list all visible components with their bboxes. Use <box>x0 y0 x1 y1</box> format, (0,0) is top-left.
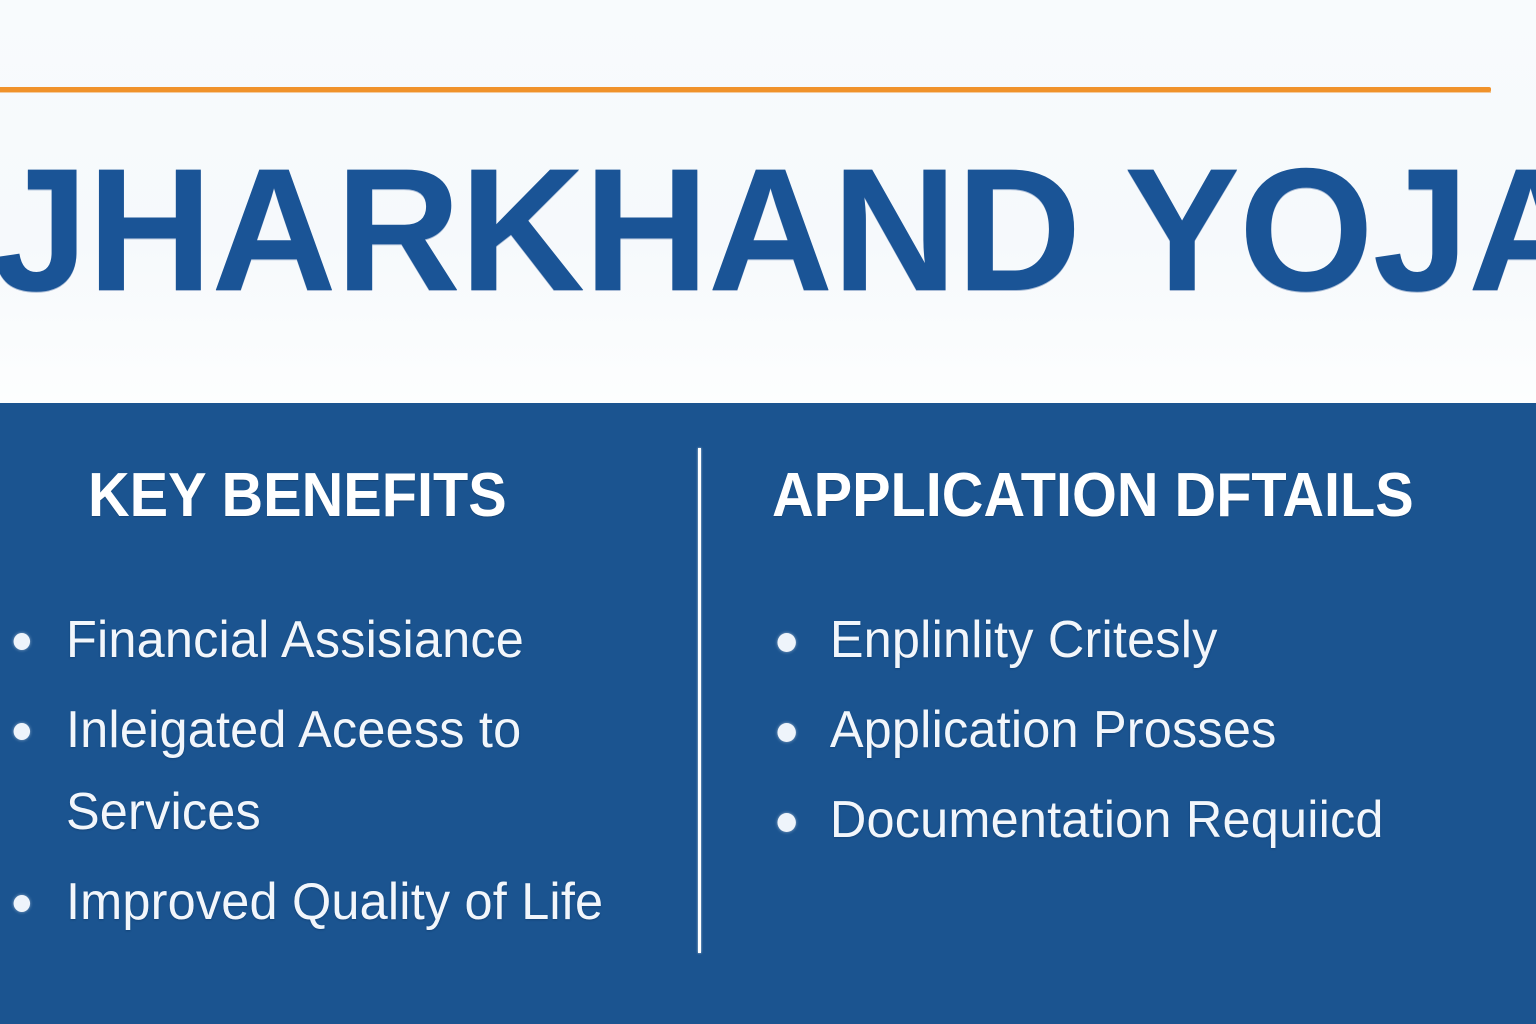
list-item: Financial Assisiance <box>0 599 669 681</box>
column-divider <box>698 448 701 953</box>
list-item-label: Application Prosses <box>830 701 1277 759</box>
content-panel: KEY BENEFITS Financial Assisiance Inleig… <box>0 403 1536 1024</box>
header-band: JHARKHAND YOJANA <box>0 0 1536 403</box>
list-item-label: Improved Quality of Life <box>66 873 603 931</box>
bullet-dot-icon <box>14 895 30 912</box>
column-heading-key-benefits: KEY BENEFITS <box>88 463 507 528</box>
list-item: Improved Quality of Life <box>0 861 669 943</box>
bullet-dot-icon <box>777 813 795 832</box>
page-title: JHARKHAND YOJANA <box>0 142 1507 321</box>
bullet-dot-icon <box>777 633 795 652</box>
column-heading-application-details: APPLICATION DFTAILS <box>772 463 1414 528</box>
orange-accent-rule <box>0 87 1491 92</box>
list-item: Enplinlity Critesly <box>760 599 1517 681</box>
application-details-list: Enplinlity Critesly Application Prosses … <box>760 599 1536 869</box>
key-benefits-list: Financial Assisiance Inleigated Aceess t… <box>0 599 690 952</box>
list-item-label: Inleigated Aceess to Services <box>66 701 521 841</box>
list-item-label: Documentation Requiicd <box>830 791 1384 849</box>
list-item: Application Prosses <box>760 689 1517 771</box>
list-item-label: Enplinlity Critesly <box>830 611 1218 669</box>
list-item: Inleigated Aceess to Services <box>0 689 669 853</box>
bullet-dot-icon <box>14 723 30 740</box>
list-item-label: Financial Assisiance <box>66 611 524 669</box>
two-column-layout: KEY BENEFITS Financial Assisiance Inleig… <box>0 403 1536 1024</box>
bullet-dot-icon <box>14 633 30 650</box>
infographic-slide: JHARKHAND YOJANA KEY BENEFITS Financial … <box>0 0 1536 1024</box>
list-item: Documentation Requiicd <box>760 779 1517 861</box>
bullet-dot-icon <box>777 723 795 742</box>
